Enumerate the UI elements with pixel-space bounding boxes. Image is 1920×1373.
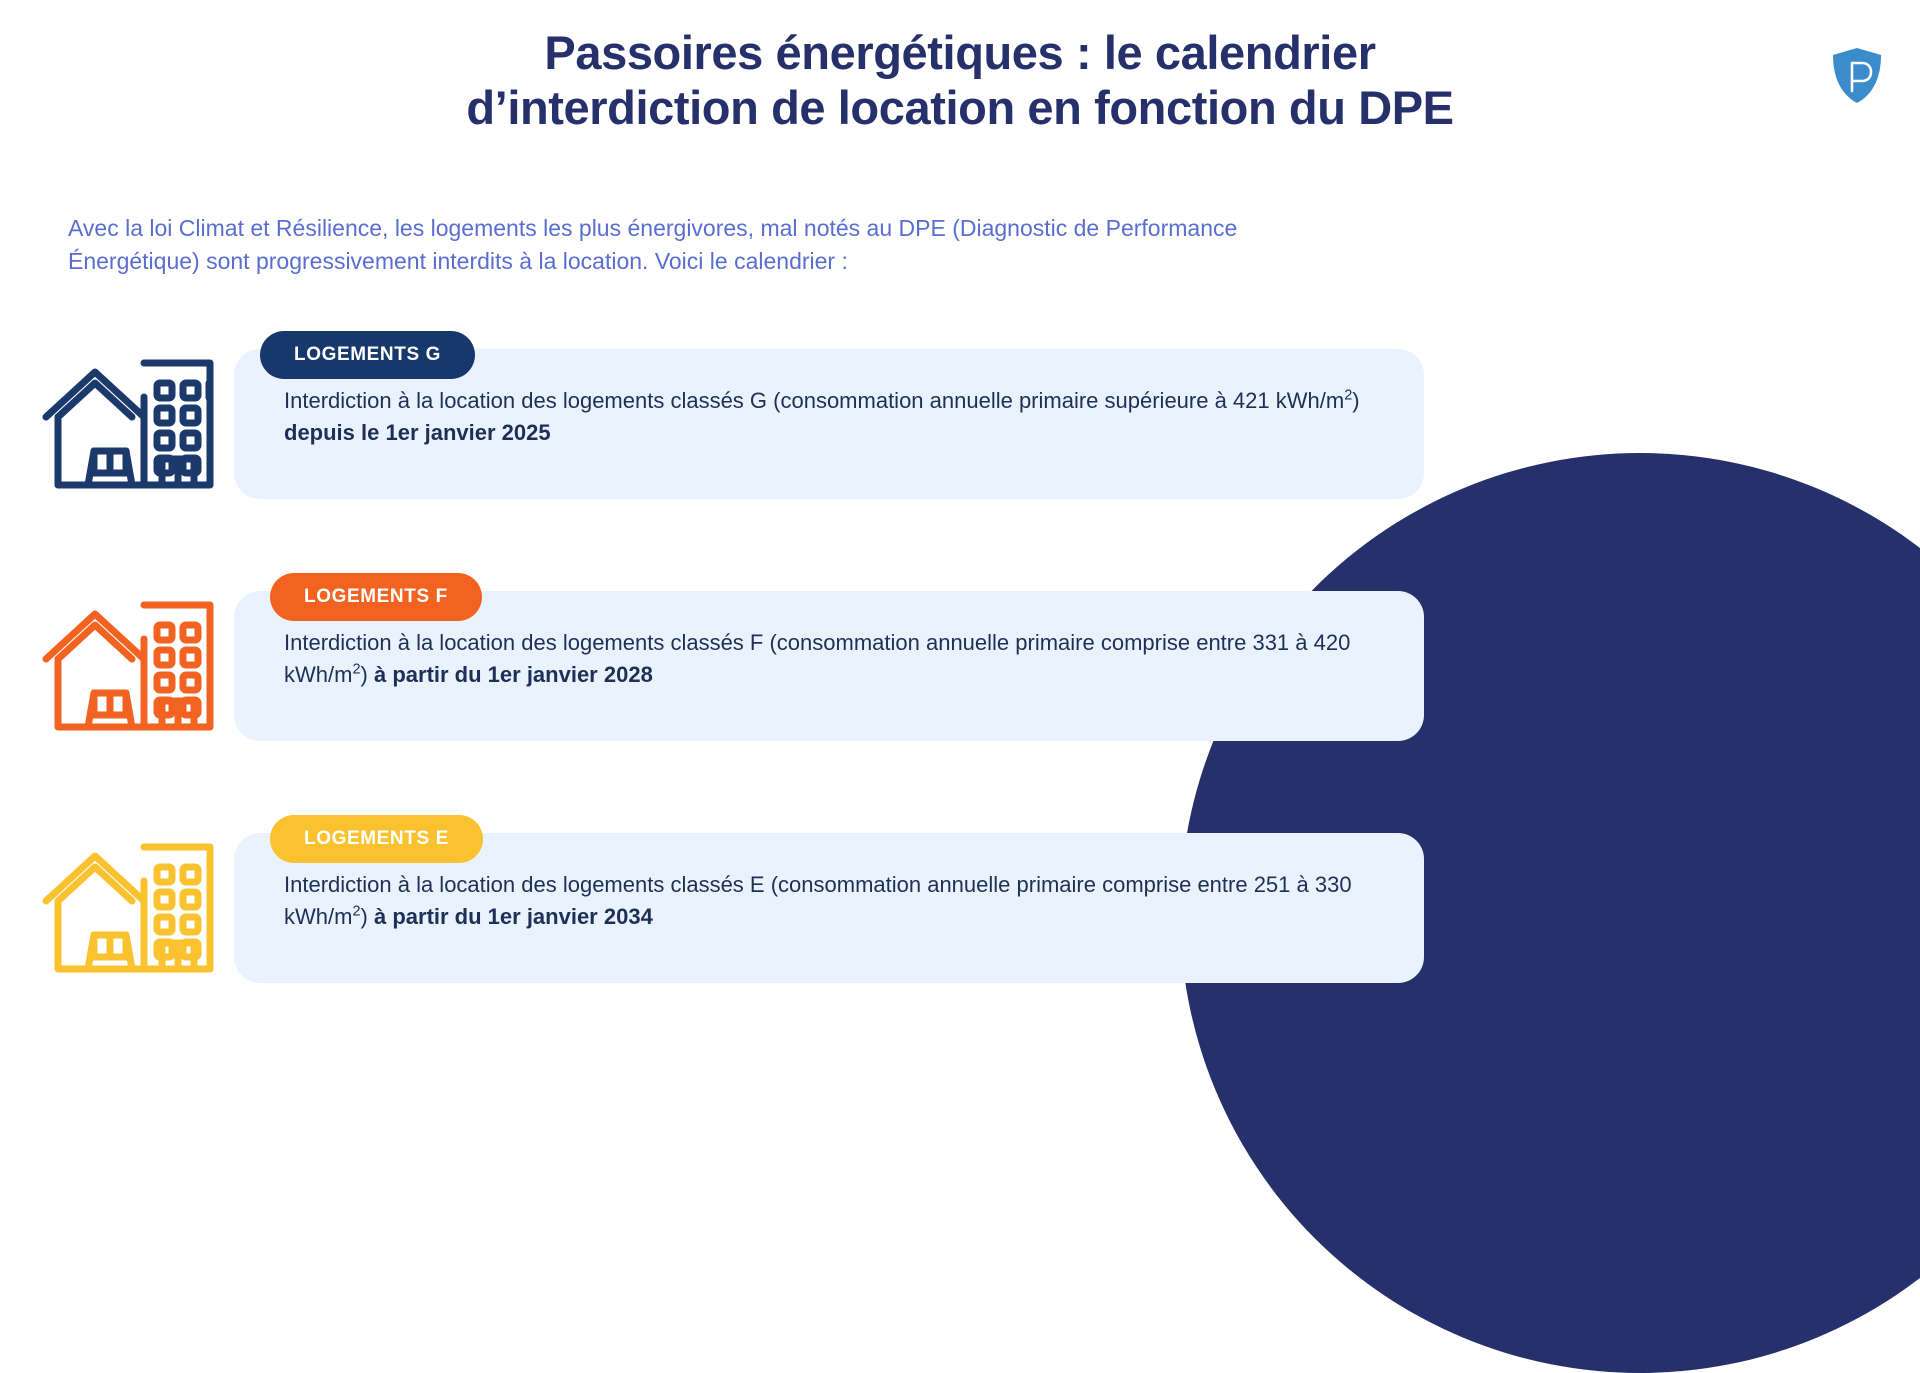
timeline-text-g-before: Interdiction à la location des logements… (284, 388, 1344, 413)
intro-line-2: Énergétique) sont progressivement interd… (68, 245, 1488, 278)
infographic-page: Passoires énergétiques : le calendrier d… (0, 26, 1920, 1108)
intro-line-1: Avec la loi Climat et Résilience, les lo… (68, 212, 1488, 245)
timeline-text-e: Interdiction à la location des logements… (284, 869, 1374, 933)
timeline-text-g-mid: ) (1352, 388, 1359, 413)
intro-paragraph: Avec la loi Climat et Résilience, les lo… (68, 212, 1488, 277)
badge-logements-g[interactable]: LOGEMENTS G (260, 331, 475, 379)
page-title-line-1: Passoires énergétiques : le calendrier (180, 26, 1740, 81)
timeline-text-g: Interdiction à la location des logements… (284, 385, 1374, 449)
timeline-card-e: LOGEMENTS E Interdiction à la location d… (234, 815, 1424, 1011)
badge-logements-f[interactable]: LOGEMENTS F (270, 573, 482, 621)
timeline-text-f-mid: ) (361, 662, 374, 687)
timeline-row-f: LOGEMENTS F Interdiction à la location d… (0, 573, 1920, 769)
house-and-apartment-building-icon (24, 573, 234, 769)
timeline-text-e-bold: à partir du 1er janvier 2034 (374, 904, 653, 929)
badge-logements-g-label: LOGEMENTS G (294, 344, 441, 366)
badge-logements-e[interactable]: LOGEMENTS E (270, 815, 483, 863)
timeline-text-g-bold: depuis le 1er janvier 2025 (284, 420, 551, 445)
timeline-text-f: Interdiction à la location des logements… (284, 627, 1374, 691)
timeline-text-f-bold: à partir du 1er janvier 2028 (374, 662, 653, 687)
timeline-card-f: LOGEMENTS F Interdiction à la location d… (234, 573, 1424, 769)
timeline-row-e: LOGEMENTS E Interdiction à la location d… (0, 815, 1920, 1011)
page-title-line-2: d’interdiction de location en fonction d… (180, 81, 1740, 136)
timeline-text-e-sup: 2 (352, 904, 360, 920)
timeline-card-g: LOGEMENTS G Interdiction à la location d… (234, 331, 1424, 527)
badge-logements-f-label: LOGEMENTS F (304, 586, 448, 608)
shield-p-logo-icon (1830, 46, 1884, 106)
page-title: Passoires énergétiques : le calendrier d… (180, 26, 1740, 136)
house-and-apartment-building-icon (24, 331, 234, 527)
house-and-apartment-building-icon (24, 815, 234, 1011)
timeline-row-g: LOGEMENTS G Interdiction à la location d… (0, 331, 1920, 527)
timeline-text-e-mid: ) (361, 904, 374, 929)
badge-logements-e-label: LOGEMENTS E (304, 828, 449, 850)
timeline-text-f-sup: 2 (352, 662, 360, 678)
dpe-timeline-list: LOGEMENTS G Interdiction à la location d… (0, 331, 1920, 1011)
